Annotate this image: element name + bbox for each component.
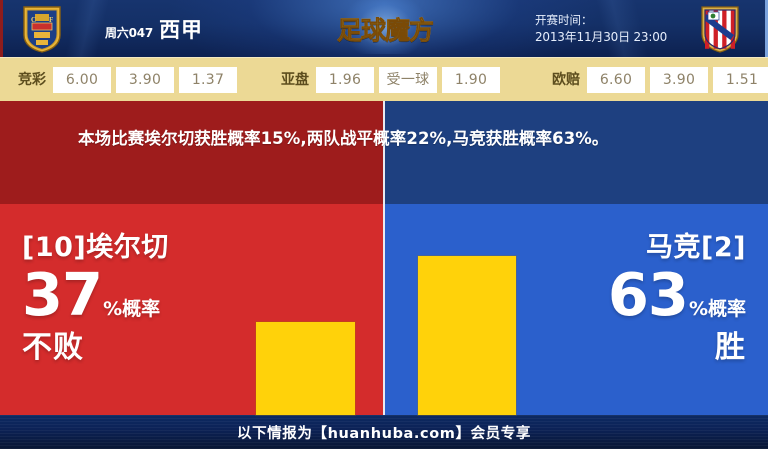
brand-logo: 足球魔方 — [325, 6, 445, 52]
odds-cell-handicap[interactable]: 受一球 — [379, 67, 437, 93]
away-outcome-label: 胜 — [608, 330, 746, 366]
home-probability-value: 37 — [22, 266, 102, 324]
odds-cell-draw[interactable]: 3.90 — [650, 67, 708, 93]
odds-group-jingcai: 竞彩 6.00 3.90 1.37 — [18, 67, 237, 93]
away-team-crest-icon — [700, 5, 740, 53]
away-probability-unit: %概率 — [689, 300, 746, 319]
home-probability-row: 37 %概率 — [22, 266, 169, 324]
odds-cell-home[interactable]: 1.96 — [316, 67, 374, 93]
kickoff-datetime: 2013年11月30日 23:00 — [535, 29, 667, 46]
odds-group-asian-handicap: 亚盘 1.96 受一球 1.90 — [281, 67, 500, 93]
odds-group-label: 竞彩 — [18, 67, 48, 93]
odds-group-label: 欧赔 — [552, 67, 582, 93]
odds-cell-away[interactable]: 1.51 — [713, 67, 768, 93]
away-probability-bar — [418, 256, 516, 415]
away-probability-value: 63 — [608, 266, 688, 324]
match-preview-infographic: C F 周六047 西甲 足球魔方 开赛时间： 2013年11月30日 23:0… — [0, 0, 768, 449]
odds-cell-home[interactable]: 6.00 — [53, 67, 111, 93]
odds-group-label: 亚盘 — [281, 67, 311, 93]
footer-membership-notice: 以下情报为【huanhuba.com】会员专享 — [237, 422, 531, 443]
odds-group-european: 欧赔 6.60 3.90 1.51 — [552, 67, 768, 93]
header-bar: C F 周六047 西甲 足球魔方 开赛时间： 2013年11月30日 23:0… — [0, 0, 768, 57]
svg-text:F: F — [49, 16, 53, 24]
home-team-stats: [10]埃尔切 37 %概率 不败 — [22, 232, 169, 366]
odds-cell-away[interactable]: 1.37 — [179, 67, 237, 93]
away-probability-row: 63 %概率 — [608, 266, 746, 324]
brand-logo-text: 足球魔方 — [337, 11, 433, 47]
kickoff-info: 开赛时间： 2013年11月30日 23:00 — [535, 12, 667, 46]
away-team-stats: 马竞[2] 63 %概率 胜 — [608, 232, 746, 366]
match-round-number: 周六047 — [105, 24, 153, 41]
home-outcome-label: 不败 — [22, 330, 169, 366]
probability-summary-text: 本场比赛埃尔切获胜概率15%,两队战平概率22%,马竞获胜概率63%。 — [78, 125, 698, 153]
svg-text:C: C — [31, 16, 36, 24]
footer-bar: 以下情报为【huanhuba.com】会员专享 — [0, 415, 768, 449]
header-left-edge — [0, 0, 3, 57]
kickoff-label: 开赛时间： — [535, 12, 667, 29]
odds-cell-home[interactable]: 6.60 — [587, 67, 645, 93]
odds-bar: 竞彩 6.00 3.90 1.37 亚盘 1.96 受一球 1.90 欧赔 6.… — [0, 57, 768, 102]
home-probability-unit: %概率 — [103, 300, 160, 319]
odds-cell-away[interactable]: 1.90 — [442, 67, 500, 93]
match-league-name: 西甲 — [159, 14, 203, 44]
odds-cell-draw[interactable]: 3.90 — [116, 67, 174, 93]
home-probability-bar — [256, 322, 355, 415]
match-title: 周六047 西甲 — [105, 14, 203, 44]
home-team-crest-icon: C F — [21, 5, 63, 53]
